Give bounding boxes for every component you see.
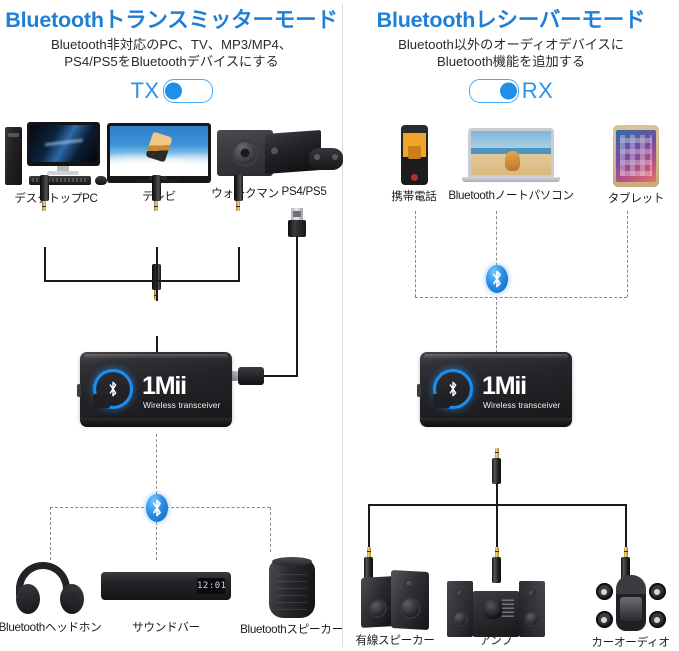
source-label: タブレット	[593, 190, 679, 206]
bt-link-tablet	[627, 211, 628, 297]
usb-a-plug	[288, 208, 306, 238]
device-brand: 1Mii	[142, 374, 226, 399]
bluetooth-status-ring	[96, 372, 130, 406]
wire-pc-vertical	[44, 247, 46, 281]
source-ps4-ps5: PS4/PS5	[265, 126, 343, 198]
rx-mode-row: RX	[343, 79, 679, 103]
rx-toggle-switch[interactable]	[469, 79, 519, 103]
device-side-button[interactable]	[77, 384, 81, 397]
output-bt-headphones: Bluetoothヘッドホン	[0, 562, 102, 635]
bt-link-soundbar	[156, 522, 157, 560]
source-tablet: タブレット	[593, 125, 679, 206]
bt-link-laptop	[496, 211, 497, 271]
bluetooth-glyph-icon	[491, 270, 503, 288]
usb-wire-vertical	[296, 236, 298, 376]
wired-speakers-icon	[361, 569, 429, 629]
wire-device-out-vertical	[496, 483, 498, 505]
device-tagline: Wireless transceiver	[143, 400, 227, 410]
source-bt-laptop: Bluetoothノートパソコン	[447, 128, 575, 203]
device-side-button[interactable]	[417, 384, 421, 397]
device-brand: 1Mii	[482, 374, 566, 399]
output-amplifier: アンプ	[447, 569, 545, 648]
bt-link-headphones	[50, 507, 51, 560]
receiver-title: Bluetoothレシーバーモード	[343, 3, 679, 34]
output-label: Bluetoothスピーカー	[240, 621, 343, 637]
bluetooth-status-ring	[436, 372, 470, 406]
tx-mode-label: TX	[130, 80, 159, 102]
device-tagline: Wireless transceiver	[483, 400, 567, 410]
desktop-pc-icon	[5, 121, 107, 187]
output-wired-speakers: 有線スピーカー	[335, 569, 455, 648]
infographic-canvas: Bluetoothトランスミッターモード Bluetooth非対応のPC、TV、…	[0, 0, 679, 651]
output-label: カーオーディオ	[582, 634, 679, 650]
output-label: サウンドバー	[101, 619, 231, 635]
transmitter-device: 1Mii Wireless transceiver	[80, 352, 232, 434]
receiver-device: 1Mii Wireless transceiver	[420, 352, 572, 434]
wire-out-right	[625, 504, 627, 548]
source-label: Bluetoothノートパソコン	[447, 187, 575, 203]
bt-bus-horizontal-right	[415, 297, 627, 298]
ps4-ps5-icon	[265, 126, 343, 182]
output-label: 有線スピーカー	[335, 632, 455, 648]
bluetooth-badge-right	[486, 265, 508, 293]
bt-link-speaker	[270, 507, 271, 552]
bluetooth-glyph-icon	[151, 499, 163, 517]
amplifier-icon	[447, 569, 545, 629]
source-mobile-phone: 携帯電話	[376, 125, 452, 204]
car-audio-icon	[594, 569, 668, 631]
output-car-audio: カーオーディオ	[582, 569, 679, 650]
soundbar-icon: 12:01	[101, 562, 231, 616]
wire-out-left	[368, 504, 370, 548]
wire-out-middle	[496, 504, 498, 548]
mobile-phone-icon	[401, 125, 428, 185]
headphones-icon	[16, 562, 84, 616]
output-bt-speaker: Bluetoothスピーカー	[240, 560, 343, 637]
output-soundbar: 12:01 サウンドバー	[101, 562, 231, 635]
rx-toggle-knob	[500, 83, 517, 100]
source-label: 携帯電話	[376, 188, 452, 204]
wire-tv-vertical	[156, 247, 158, 301]
wire-walkman-vertical	[238, 247, 240, 281]
bt-speaker-icon	[269, 560, 315, 618]
tx-toggle-knob	[165, 83, 182, 100]
tablet-icon	[613, 125, 659, 187]
bt-link-device-right	[496, 297, 497, 353]
transmitter-panel: Bluetoothトランスミッターモード Bluetooth非対応のPC、TV、…	[0, 0, 343, 651]
output-label: Bluetoothヘッドホン	[0, 619, 102, 635]
wire-bus-horizontal	[44, 280, 240, 282]
tx-mode-row: TX	[0, 79, 343, 103]
source-label: デスクトップPC	[0, 190, 114, 206]
bt-link-phone	[415, 211, 416, 297]
transmitter-subtitle: Bluetooth非対応のPC、TV、MP3/MP4、 PS4/PS5をBlue…	[0, 36, 343, 70]
tx-toggle-switch[interactable]	[163, 79, 213, 103]
usb-c-plug	[228, 367, 264, 385]
rx-mode-label: RX	[522, 80, 554, 102]
bluetooth-glyph-icon	[448, 381, 459, 397]
receiver-subtitle: Bluetooth以外のオーディオデバイスに Bluetooth機能を追加する	[343, 36, 679, 70]
wire-device-in	[156, 336, 158, 352]
receiver-panel: Bluetoothレシーバーモード Bluetooth以外のオーディオデバイスに…	[343, 0, 679, 651]
bt-link-device-down	[156, 434, 157, 494]
transmitter-title: Bluetoothトランスミッターモード	[0, 3, 343, 34]
soundbar-clock-display: 12:01	[197, 578, 225, 594]
source-label: PS4/PS5	[265, 185, 343, 198]
bluetooth-badge-left	[146, 494, 168, 522]
bluetooth-glyph-icon	[108, 381, 119, 397]
laptop-icon	[462, 128, 560, 184]
source-desktop-pc: デスクトップPC	[0, 121, 114, 206]
